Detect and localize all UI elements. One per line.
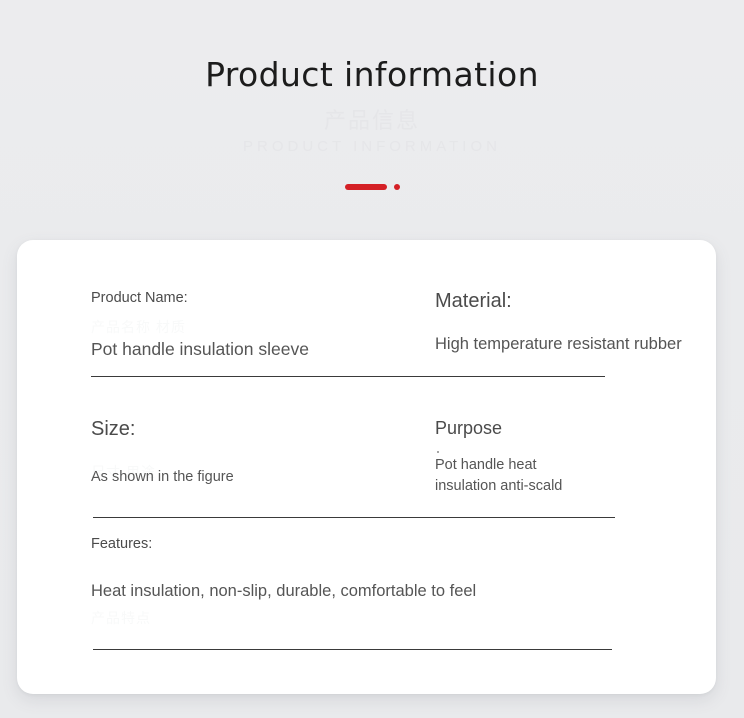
purpose-value-line-1: Pot handle heat bbox=[435, 455, 725, 476]
watermark-line-1: 产品信息 bbox=[0, 108, 744, 134]
divider-dot-icon bbox=[394, 184, 400, 190]
field-material: Material: High temperature resistant rub… bbox=[435, 290, 725, 354]
purpose-value-line-2: insulation anti-scald bbox=[435, 476, 725, 497]
divider-bar-icon bbox=[345, 184, 387, 190]
stray-dot-artifact bbox=[437, 451, 439, 453]
field-purpose: Purpose Pot handle heat insulation anti-… bbox=[435, 418, 725, 497]
features-value: Heat insulation, non-slip, durable, comf… bbox=[91, 582, 651, 601]
product-name-label: Product Name: bbox=[91, 290, 391, 306]
info-row-product-name: Product Name: Pot handle insulation slee… bbox=[17, 290, 716, 429]
page-title: Product information bbox=[0, 55, 744, 94]
purpose-label: Purpose bbox=[435, 418, 725, 439]
title-divider bbox=[0, 184, 744, 190]
row-divider-1 bbox=[91, 376, 605, 377]
material-label: Material: bbox=[435, 290, 725, 313]
page-header: Product information 产品信息 PRODUCT INFORMA… bbox=[0, 0, 744, 240]
size-label: Size: bbox=[91, 418, 391, 441]
field-features: Features: Heat insulation, non-slip, dur… bbox=[91, 536, 651, 601]
row-divider-3 bbox=[93, 649, 612, 650]
material-value: High temperature resistant rubber bbox=[435, 335, 725, 354]
watermark-line-2: PRODUCT INFORMATION bbox=[0, 134, 744, 160]
row-divider-2 bbox=[93, 517, 615, 518]
product-name-value: Pot handle insulation sleeve bbox=[91, 339, 391, 360]
header-watermark: 产品信息 PRODUCT INFORMATION bbox=[0, 108, 744, 160]
field-size: Size: As shown in the figure bbox=[91, 418, 391, 485]
product-info-card: 产品名称 材质 尺寸 用途 产品特点 Product Name: Pot han… bbox=[17, 240, 716, 694]
size-value: As shown in the figure bbox=[91, 469, 391, 485]
field-product-name: Product Name: Pot handle insulation slee… bbox=[91, 290, 391, 360]
features-label: Features: bbox=[91, 536, 651, 552]
purpose-value: Pot handle heat insulation anti-scald bbox=[435, 455, 725, 497]
